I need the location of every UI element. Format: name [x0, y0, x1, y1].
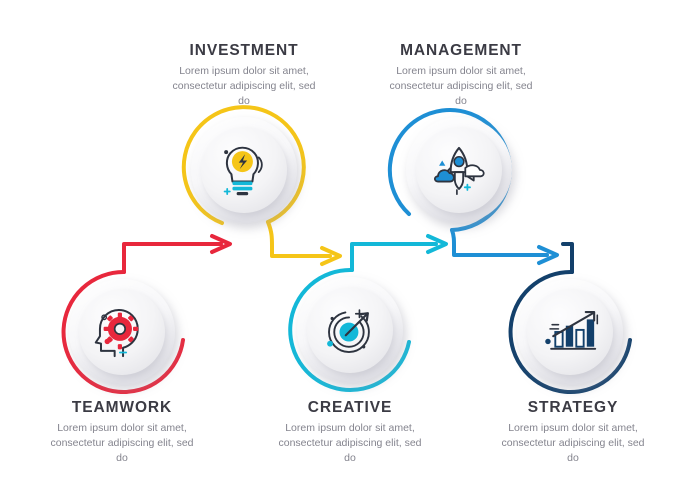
node-card-management[interactable] [406, 117, 512, 223]
label-management: MANAGEMENT Lorem ipsum dolor sit amet, c… [356, 42, 566, 109]
title-strategy: STRATEGY [468, 399, 678, 416]
label-creative: CREATIVE Lorem ipsum dolor sit amet, con… [245, 399, 455, 466]
title-management: MANAGEMENT [356, 42, 566, 59]
title-creative: CREATIVE [245, 399, 455, 416]
description-management: Lorem ipsum dolor sit amet, consectetur … [356, 64, 566, 109]
description-investment: Lorem ipsum dolor sit amet, consectetur … [139, 64, 349, 109]
description-strategy: Lorem ipsum dolor sit amet, consectetur … [468, 421, 678, 466]
title-investment: INVESTMENT [139, 42, 349, 59]
label-investment: INVESTMENT Lorem ipsum dolor sit amet, c… [139, 42, 349, 109]
description-creative: Lorem ipsum dolor sit amet, consectetur … [245, 421, 455, 466]
infographic-canvas: INVESTMENT Lorem ipsum dolor sit amet, c… [0, 0, 700, 500]
title-teamwork: TEAMWORK [17, 399, 227, 416]
description-teamwork: Lorem ipsum dolor sit amet, consectetur … [17, 421, 227, 466]
label-strategy: STRATEGY Lorem ipsum dolor sit amet, con… [468, 399, 678, 466]
label-teamwork: TEAMWORK Lorem ipsum dolor sit amet, con… [17, 399, 227, 466]
